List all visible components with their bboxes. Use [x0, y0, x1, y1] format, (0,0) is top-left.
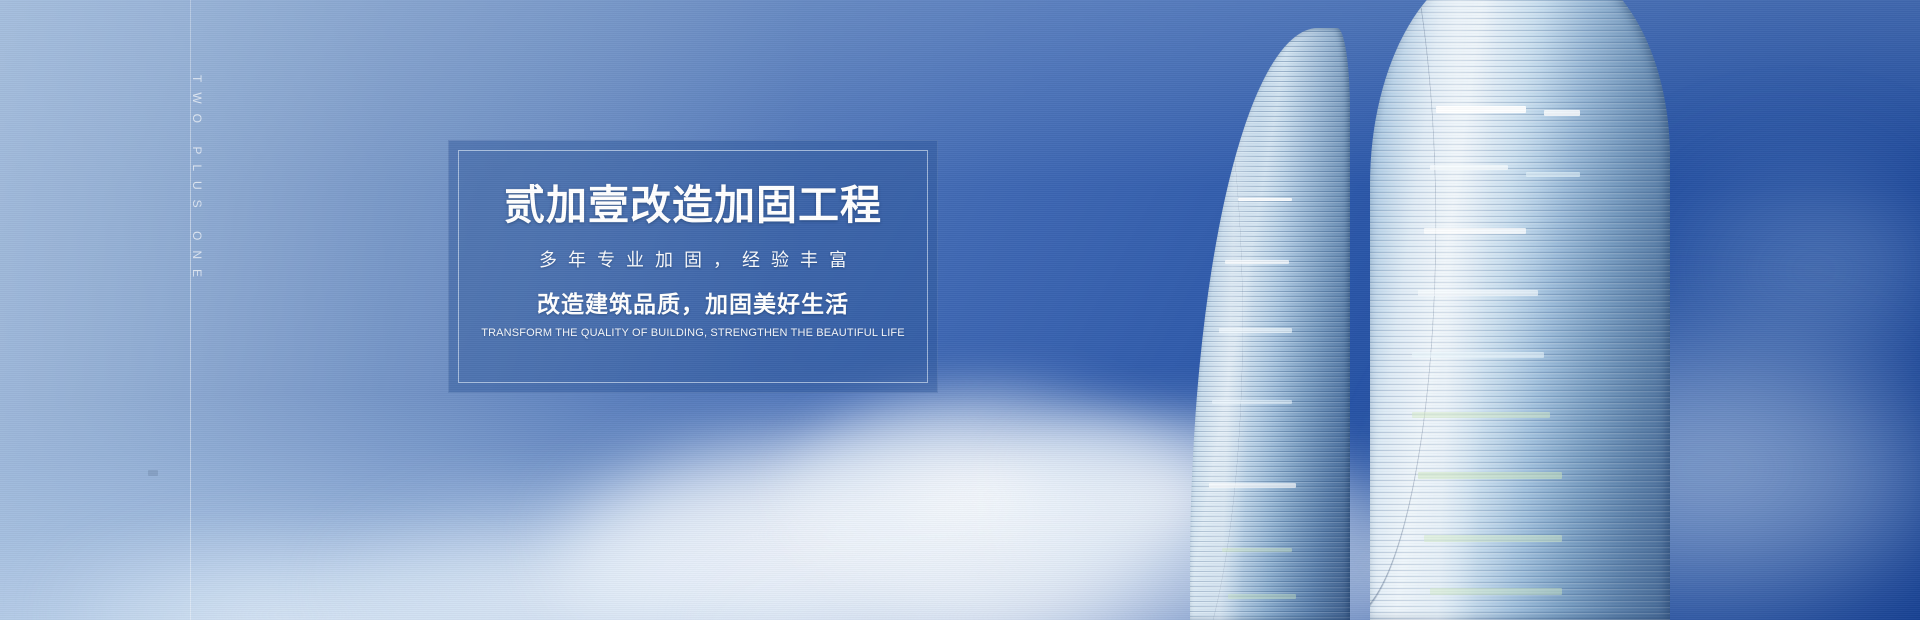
film-grain-overlay — [0, 0, 1920, 620]
banner-root: TWO PLUS ONE 贰加壹改造加固工程 多年专业加固，经验丰富 改造建筑品… — [0, 0, 1920, 620]
